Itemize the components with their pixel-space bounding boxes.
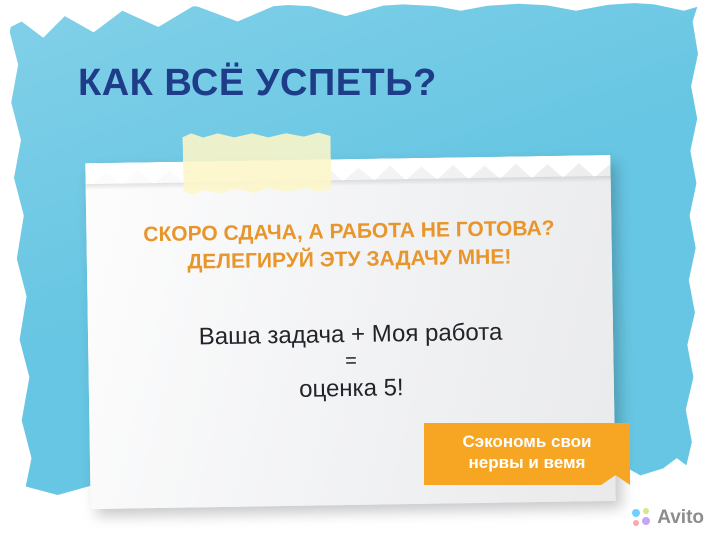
ribbon-line-2: нервы и вемя <box>424 452 630 473</box>
masking-tape <box>182 130 331 195</box>
avito-logo-icon <box>632 508 652 528</box>
ribbon-badge: Сэкономь свои нервы и вемя <box>424 423 630 485</box>
note-heading-line-1: СКОРО СДАЧА, А РАБОТА НЕ ГОТОВА? <box>143 217 555 246</box>
ribbon-line-1: Сэкономь свои <box>424 431 630 452</box>
note-body: Ваша задача + Моя работа = оценка 5! <box>88 316 614 407</box>
note-heading: СКОРО СДАЧА, А РАБОТА НЕ ГОТОВА? ДЕЛЕГИР… <box>86 214 612 279</box>
poster-canvas: КАК ВСЁ УСПЕТЬ? СКОРО СДАЧА, А РАБОТА НЕ… <box>0 0 720 539</box>
avito-watermark: Avito <box>632 507 704 529</box>
avito-watermark-text: Avito <box>657 507 704 529</box>
poster-headline: КАК ВСЁ УСПЕТЬ? <box>78 62 437 105</box>
